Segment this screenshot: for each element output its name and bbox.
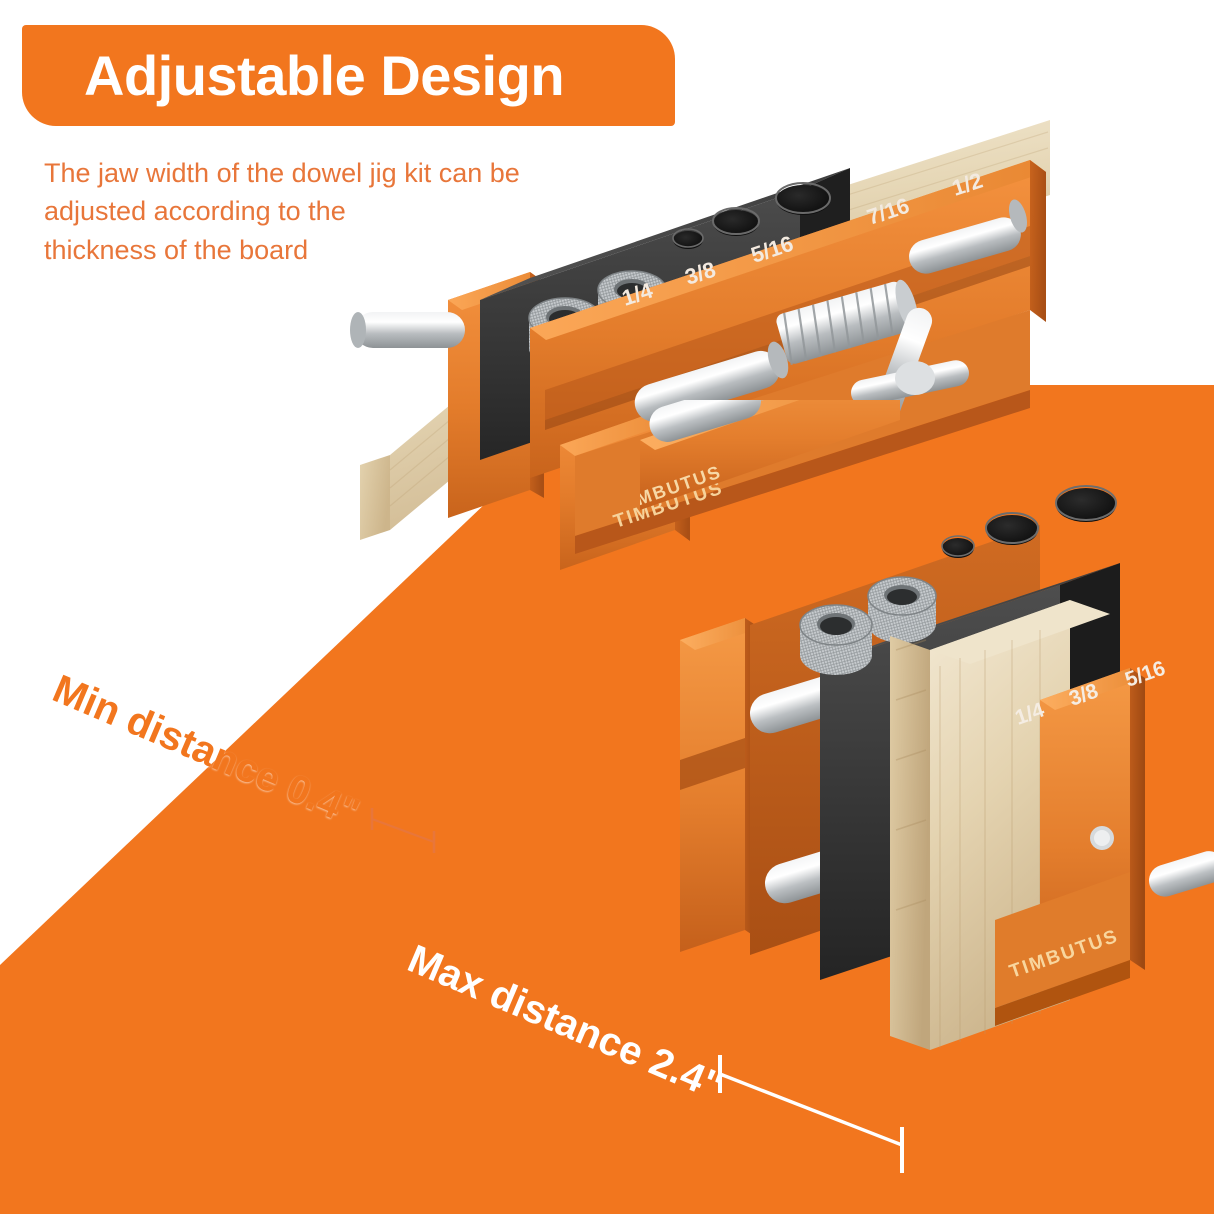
bottom-jig-rear-jaw <box>680 618 760 952</box>
top-guide-rod-upper-left <box>350 312 465 348</box>
page-title: Adjustable Design <box>22 48 564 104</box>
min-distance-label: Min distance 0.4" <box>46 667 365 837</box>
bottom-dowel-jig-assembly: TIMBUTUS <box>640 400 1214 1100</box>
min-distance-dimension-line <box>360 800 450 860</box>
description-paragraph: The jaw width of the dowel jig kit can b… <box>44 154 604 269</box>
description-line-3: thickness of the board <box>44 231 604 269</box>
infographic-canvas: 1/4 3/8 5/16 7/16 1/2 TIMBUTUS <box>0 0 1214 1214</box>
description-line-1: The jaw width of the dowel jig kit can b… <box>44 154 604 192</box>
max-distance-dimension-line <box>705 1045 935 1185</box>
description-line-2: adjusted according to the <box>44 192 604 230</box>
bottom-bushing-left <box>800 605 872 675</box>
bottom-bushing-right <box>868 577 936 643</box>
title-banner: Adjustable Design <box>22 25 675 126</box>
bottom-guide-pin-right <box>1145 847 1214 900</box>
marking-5-16: 5/16 <box>1122 657 1168 692</box>
